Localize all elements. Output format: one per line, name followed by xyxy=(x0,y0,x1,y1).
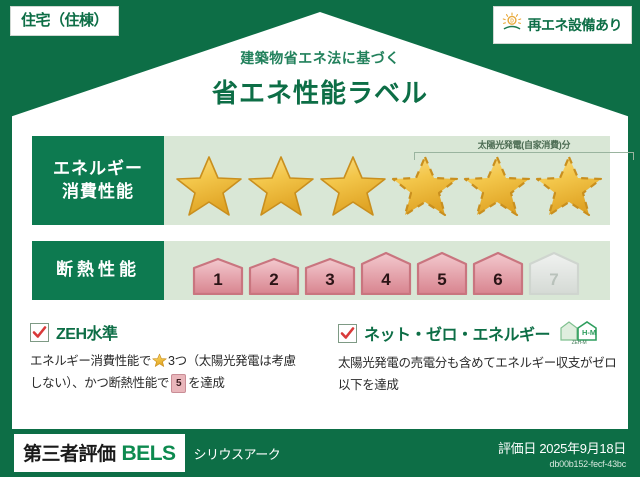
criteria-section: ZEH水準 エネルギー消費性能で3つ（太陽光発電は考慮しない）、かつ断熱性能で5… xyxy=(0,320,640,397)
renewable-equipment-badge: D 再エネ設備あり xyxy=(493,6,633,44)
bels-en-label: BELS xyxy=(122,442,176,466)
label-footer: 第三者評価 BELS シリウスアーク 評価日 2025年9月18日 db00b1… xyxy=(0,429,640,477)
insulation-performance-label-box: 断熱性能 xyxy=(32,241,164,300)
insulation-badge-value: 3 xyxy=(325,270,334,295)
insulation-badge-value: 4 xyxy=(381,270,390,295)
insulation-grade-scale: 1 2 3 4 xyxy=(192,251,580,295)
energy-performance-label-box: エネルギー 消費性能 xyxy=(32,136,164,225)
zeh-m-logo-caption: ZEH-M xyxy=(572,340,587,346)
energy-performance-row: エネルギー 消費性能 太陽光発電(自家消費)分 xyxy=(32,136,610,225)
evaluation-id: db00b152-fecf-43bc xyxy=(498,459,626,469)
vendor-name: シリウスアーク xyxy=(194,444,281,463)
insulation-badge: 6 xyxy=(472,251,524,295)
inline-star-icon xyxy=(152,353,167,368)
insulation-badge: 4 xyxy=(360,251,412,295)
zeh-text-part1: エネルギー消費性能で xyxy=(30,354,151,368)
star-pv-dashed xyxy=(462,153,532,221)
net-zero-description: 太陽光発電の売電分も含めてエネルギー収支がゼロ以下を達成 xyxy=(338,353,626,397)
star-filled xyxy=(318,153,388,221)
insulation-badge-value: 1 xyxy=(213,270,222,295)
pv-self-consumption-note: 太陽光発電(自家消費)分 xyxy=(409,138,639,151)
insulation-badge-inactive: 7 xyxy=(528,251,580,295)
zeh-checkbox xyxy=(30,323,49,342)
star-filled xyxy=(246,153,316,221)
insulation-badge-value: 5 xyxy=(437,270,446,295)
insulation-badge: 3 xyxy=(304,257,356,295)
star-rating xyxy=(164,153,610,221)
star-pv-dashed xyxy=(534,153,604,221)
zeh-m-logo-text: H-M xyxy=(582,328,596,337)
zeh-title: ZEH水準 xyxy=(56,320,118,344)
criterion-zeh: ZEH水準 エネルギー消費性能で3つ（太陽光発電は考慮しない）、かつ断熱性能で5… xyxy=(0,320,320,397)
building-type-label: 住宅（住棟） xyxy=(21,12,108,29)
label-title-block: 建築物省エネ法に基づく 省エネ性能ラベル xyxy=(0,48,640,110)
renewable-badge-label: 再エネ設備あり xyxy=(528,18,623,32)
net-zero-title: ネット・ゼロ・エネルギー xyxy=(364,321,550,345)
zeh-text-part3: を達成 xyxy=(188,376,224,390)
insulation-badge: 2 xyxy=(248,257,300,295)
evaluation-date: 評価日 2025年9月18日 xyxy=(498,438,626,457)
zeh-m-logo: H-M ZEH-M xyxy=(558,320,600,346)
insulation-performance-row: 断熱性能 1 xyxy=(32,241,610,300)
bels-badge: 第三者評価 BELS xyxy=(14,434,185,472)
insulation-badge: 5 xyxy=(416,251,468,295)
insulation-badge-value: 2 xyxy=(269,270,278,295)
net-zero-checkbox xyxy=(338,324,357,343)
star-pv-dashed xyxy=(390,153,460,221)
insulation-badge-value: 7 xyxy=(549,270,558,295)
insulation-badge: 1 xyxy=(192,257,244,295)
title-main: 省エネ性能ラベル xyxy=(0,73,640,110)
energy-label-line2: 消費性能 xyxy=(62,181,134,204)
net-zero-heading: ネット・ゼロ・エネルギー H-M ZEH-M xyxy=(338,320,626,346)
zeh-heading: ZEH水準 xyxy=(30,320,302,344)
insulation-performance-panel: 1 2 3 4 xyxy=(164,241,610,300)
insulation-badge-value: 6 xyxy=(493,270,502,295)
energy-label-line1: エネルギー xyxy=(53,158,143,181)
insulation-label: 断熱性能 xyxy=(56,259,140,282)
bels-jp-label: 第三者評価 xyxy=(23,439,116,466)
criterion-net-zero: ネット・ゼロ・エネルギー H-M ZEH-M 太陽光発電の売電分も含めてエネルギ… xyxy=(320,320,640,397)
evaluation-info: 評価日 2025年9月18日 db00b152-fecf-43bc xyxy=(498,438,626,469)
star-filled xyxy=(174,153,244,221)
energy-performance-label: 住宅（住棟） D 再エネ設備あり 建築物省エネ法に基づ xyxy=(0,0,640,477)
sun-renewable-icon: D xyxy=(501,12,523,37)
title-subtitle: 建築物省エネ法に基づく xyxy=(0,48,640,68)
building-type-tag: 住宅（住棟） xyxy=(10,6,119,36)
svg-text:D: D xyxy=(510,19,514,25)
zeh-grade-badge: 5 xyxy=(171,374,186,394)
zeh-description: エネルギー消費性能で3つ（太陽光発電は考慮しない）、かつ断熱性能で5を達成 xyxy=(30,351,302,395)
energy-performance-panel: 太陽光発電(自家消費)分 xyxy=(164,136,610,225)
